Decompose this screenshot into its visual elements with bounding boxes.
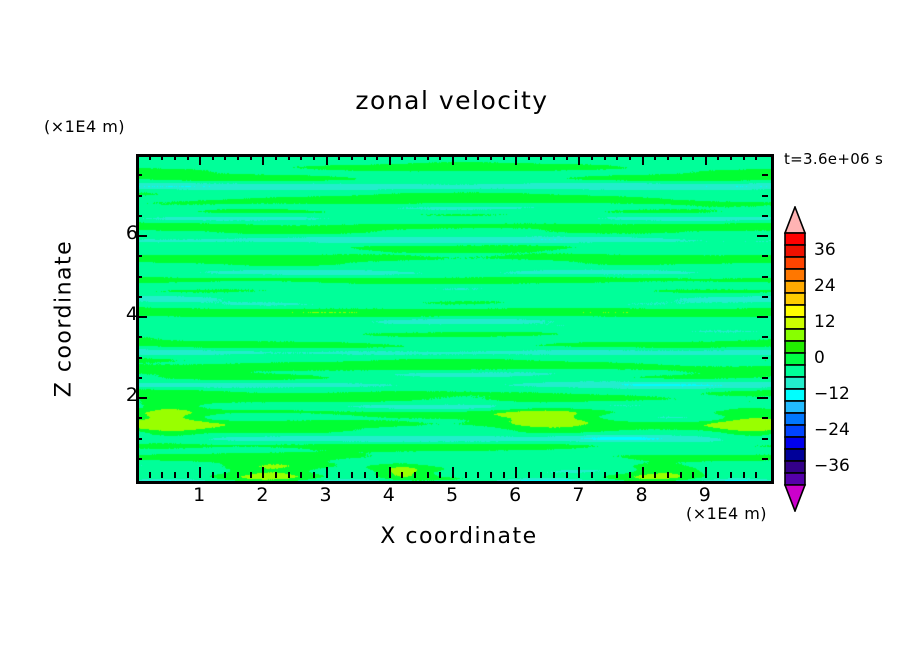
y-minor-tick	[136, 255, 142, 257]
colorbar-band	[785, 281, 805, 293]
x-major-tick-top	[326, 154, 328, 165]
x-minor-tick	[237, 472, 239, 478]
colorbar-band	[785, 233, 805, 245]
x-minor-tick-top	[629, 154, 631, 160]
x-major-tick	[389, 467, 391, 478]
x-minor-tick	[680, 472, 682, 478]
y-tick-label: 6	[98, 222, 138, 244]
x-minor-tick	[540, 472, 542, 478]
x-minor-tick-top	[300, 154, 302, 160]
colorbar-svg	[783, 206, 807, 512]
x-major-tick-top	[515, 154, 517, 165]
colorbar-band	[785, 449, 805, 461]
x-major-tick-top	[705, 154, 707, 165]
y-major-tick-right	[757, 316, 768, 318]
x-minor-tick	[553, 472, 555, 478]
x-major-tick	[705, 467, 707, 478]
x-major-tick	[262, 467, 264, 478]
x-minor-tick	[288, 472, 290, 478]
colorbar-over-arrow	[785, 207, 805, 233]
x-minor-tick	[465, 472, 467, 478]
x-minor-tick	[667, 472, 669, 478]
x-minor-tick	[351, 472, 353, 478]
x-minor-tick	[224, 472, 226, 478]
x-tick-label: 7	[558, 484, 598, 506]
x-minor-tick-top	[364, 154, 366, 160]
x-major-tick	[452, 467, 454, 478]
colorbar-band	[785, 461, 805, 473]
x-minor-tick-top	[161, 154, 163, 160]
y-minor-tick	[136, 276, 142, 278]
y-minor-tick-right	[762, 276, 768, 278]
y-minor-tick-right	[762, 417, 768, 419]
x-axis-title: X coordinate	[0, 524, 904, 549]
colorbar-tick-label: −12	[814, 384, 850, 404]
x-minor-tick-top	[730, 154, 732, 160]
x-major-tick	[578, 467, 580, 478]
colorbar-band	[785, 317, 805, 329]
y-minor-tick	[136, 377, 142, 379]
x-minor-tick	[313, 472, 315, 478]
colorbar-band	[785, 413, 805, 425]
x-minor-tick-top	[313, 154, 315, 160]
colorbar-band	[785, 377, 805, 389]
x-minor-tick	[250, 472, 252, 478]
x-minor-tick	[414, 472, 416, 478]
x-minor-tick	[401, 472, 403, 478]
x-major-tick	[642, 467, 644, 478]
y-minor-tick	[136, 195, 142, 197]
colorbar-tick-label: −24	[814, 420, 850, 440]
y-major-tick-right	[757, 397, 768, 399]
x-minor-tick	[604, 472, 606, 478]
colorbar-tick-label: 12	[814, 312, 836, 332]
y-minor-tick	[136, 458, 142, 460]
x-major-tick	[199, 467, 201, 478]
x-major-tick-top	[452, 154, 454, 165]
x-minor-tick	[439, 472, 441, 478]
x-minor-tick-top	[591, 154, 593, 160]
y-major-tick-right	[757, 235, 768, 237]
x-minor-tick	[654, 472, 656, 478]
page-title: zonal velocity	[0, 86, 904, 115]
x-major-tick-top	[199, 154, 201, 165]
colorbar-band	[785, 293, 805, 305]
time-annotation: t=3.6e+06 s	[784, 150, 883, 168]
colorbar-tick-label: 36	[814, 240, 836, 260]
colorbar-band	[785, 401, 805, 413]
x-minor-tick	[717, 472, 719, 478]
x-minor-tick-top	[528, 154, 530, 160]
y-minor-tick-right	[762, 438, 768, 440]
x-tick-label: 3	[306, 484, 346, 506]
x-minor-tick-top	[616, 154, 618, 160]
figure-canvas: zonal velocity (×1E4 m) (×1E4 m) X coord…	[0, 0, 904, 654]
x-minor-tick-top	[553, 154, 555, 160]
colorbar-under-arrow	[785, 485, 805, 511]
x-minor-tick	[364, 472, 366, 478]
x-minor-tick	[755, 472, 757, 478]
colorbar-band	[785, 365, 805, 377]
y-minor-tick	[136, 438, 142, 440]
x-minor-tick-top	[414, 154, 416, 160]
contour-field	[139, 157, 771, 481]
x-minor-tick-top	[540, 154, 542, 160]
x-minor-tick	[427, 472, 429, 478]
y-minor-tick-right	[762, 174, 768, 176]
x-minor-tick-top	[692, 154, 694, 160]
x-minor-tick-top	[149, 154, 151, 160]
x-minor-tick-top	[338, 154, 340, 160]
x-tick-label: 6	[495, 484, 535, 506]
x-minor-tick-top	[465, 154, 467, 160]
x-minor-tick-top	[439, 154, 441, 160]
x-minor-tick-top	[667, 154, 669, 160]
x-tick-label: 9	[685, 484, 725, 506]
colorbar-band	[785, 257, 805, 269]
y-axis-unit-label: (×1E4 m)	[44, 117, 125, 136]
x-major-tick-top	[262, 154, 264, 165]
x-minor-tick-top	[755, 154, 757, 160]
x-minor-tick	[566, 472, 568, 478]
y-minor-tick-right	[762, 195, 768, 197]
x-axis-unit-label: (×1E4 m)	[686, 504, 767, 523]
x-minor-tick	[743, 472, 745, 478]
x-minor-tick-top	[187, 154, 189, 160]
y-axis-title: Z coordinate	[52, 219, 77, 419]
x-major-tick	[515, 467, 517, 478]
x-minor-tick-top	[224, 154, 226, 160]
x-tick-label: 1	[179, 484, 219, 506]
colorbar-tick-label: −36	[814, 456, 850, 476]
y-minor-tick-right	[762, 296, 768, 298]
colorbar-band	[785, 245, 805, 257]
x-minor-tick	[376, 472, 378, 478]
x-minor-tick-top	[604, 154, 606, 160]
y-minor-tick	[136, 215, 142, 217]
x-minor-tick-top	[275, 154, 277, 160]
x-minor-tick-top	[654, 154, 656, 160]
y-minor-tick-right	[762, 215, 768, 217]
y-minor-tick-right	[762, 357, 768, 359]
x-tick-label: 8	[622, 484, 662, 506]
colorbar-band	[785, 329, 805, 341]
colorbar-band	[785, 389, 805, 401]
x-tick-label: 2	[242, 484, 282, 506]
y-minor-tick-right	[762, 458, 768, 460]
colorbar-band	[785, 353, 805, 365]
colorbar-band	[785, 269, 805, 281]
x-minor-tick-top	[566, 154, 568, 160]
x-minor-tick-top	[427, 154, 429, 160]
x-minor-tick-top	[680, 154, 682, 160]
y-tick-label: 4	[98, 303, 138, 325]
x-minor-tick	[212, 472, 214, 478]
y-minor-tick-right	[762, 255, 768, 257]
colorbar-tick-label: 24	[814, 276, 836, 296]
y-minor-tick	[136, 174, 142, 176]
x-minor-tick-top	[351, 154, 353, 160]
x-minor-tick	[629, 472, 631, 478]
x-minor-tick-top	[237, 154, 239, 160]
x-minor-tick-top	[743, 154, 745, 160]
x-major-tick	[326, 467, 328, 478]
x-minor-tick	[300, 472, 302, 478]
x-major-tick-top	[389, 154, 391, 165]
x-minor-tick-top	[288, 154, 290, 160]
colorbar	[783, 206, 807, 512]
y-minor-tick	[136, 336, 142, 338]
colorbar-band	[785, 305, 805, 317]
colorbar-tick-label: 0	[814, 348, 825, 368]
x-minor-tick	[477, 472, 479, 478]
x-major-tick-top	[578, 154, 580, 165]
x-tick-label: 5	[432, 484, 472, 506]
x-minor-tick-top	[401, 154, 403, 160]
x-minor-tick-top	[477, 154, 479, 160]
x-minor-tick-top	[212, 154, 214, 160]
y-tick-label: 2	[98, 384, 138, 406]
colorbar-band	[785, 473, 805, 485]
x-minor-tick	[338, 472, 340, 478]
x-minor-tick-top	[250, 154, 252, 160]
x-major-tick-top	[642, 154, 644, 165]
y-minor-tick	[136, 417, 142, 419]
x-minor-tick	[161, 472, 163, 478]
y-minor-tick-right	[762, 377, 768, 379]
x-minor-tick-top	[503, 154, 505, 160]
x-minor-tick	[616, 472, 618, 478]
contour-plot-area	[136, 154, 774, 484]
x-minor-tick	[187, 472, 189, 478]
x-tick-label: 4	[369, 484, 409, 506]
x-minor-tick-top	[376, 154, 378, 160]
x-minor-tick	[490, 472, 492, 478]
x-minor-tick	[591, 472, 593, 478]
x-minor-tick-top	[490, 154, 492, 160]
x-minor-tick	[275, 472, 277, 478]
y-minor-tick	[136, 357, 142, 359]
x-minor-tick	[528, 472, 530, 478]
x-minor-tick-top	[717, 154, 719, 160]
x-minor-tick	[730, 472, 732, 478]
x-minor-tick-top	[174, 154, 176, 160]
colorbar-band	[785, 425, 805, 437]
x-minor-tick	[149, 472, 151, 478]
x-minor-tick	[503, 472, 505, 478]
y-minor-tick	[136, 296, 142, 298]
colorbar-band	[785, 437, 805, 449]
x-minor-tick	[174, 472, 176, 478]
x-minor-tick	[692, 472, 694, 478]
y-minor-tick-right	[762, 336, 768, 338]
colorbar-band	[785, 341, 805, 353]
